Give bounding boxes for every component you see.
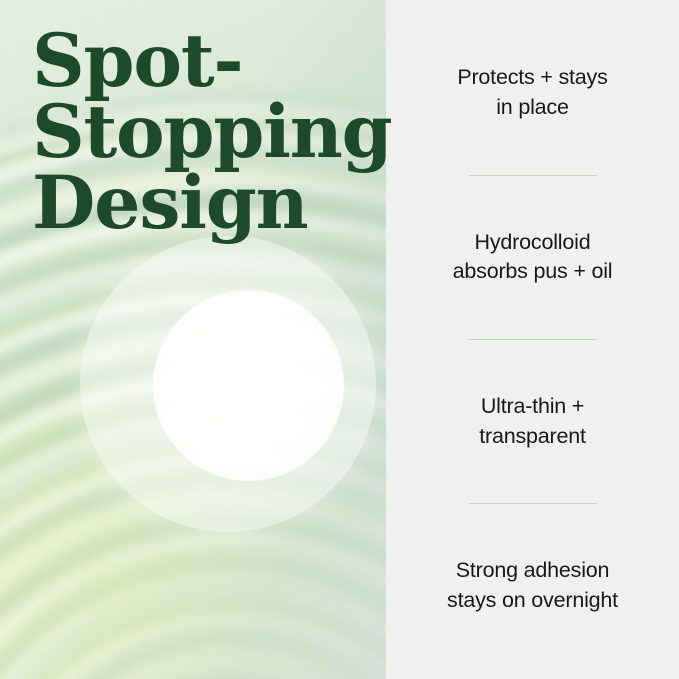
feature-divider-3 (469, 503, 597, 504)
feature-divider-2 (469, 339, 597, 340)
page-title: Spot-Stopping Design (32, 26, 592, 238)
patch-disc-inner (153, 290, 344, 481)
feature-item-ultra-thin: Ultra-thin + transparent (386, 392, 679, 451)
product-feature-graphic: Spot-Stopping Design Protects + stays in… (0, 0, 679, 679)
feature-item-strong-adhesion: Strong adhesion stays on overnight (386, 556, 679, 615)
